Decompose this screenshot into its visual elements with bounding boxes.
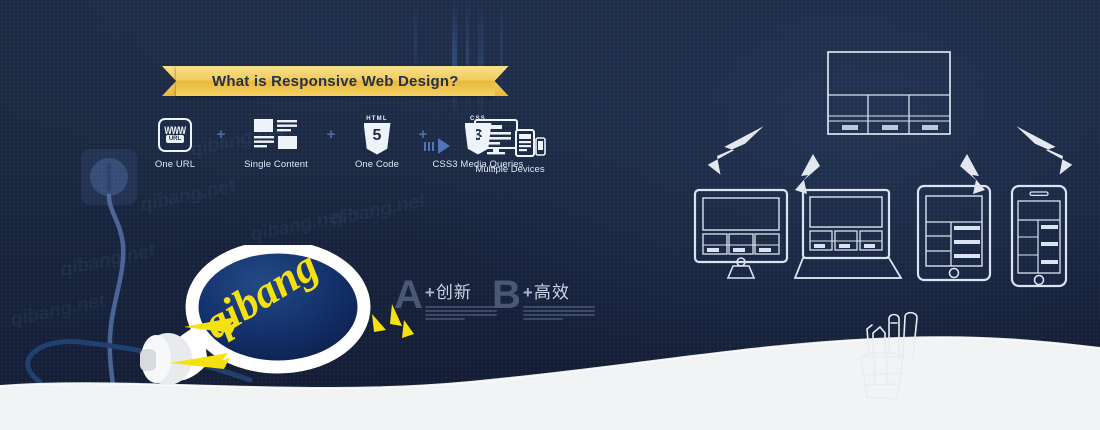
laptop-wireframe-icon	[795, 190, 901, 278]
content-blocks-icon	[254, 118, 298, 152]
feature-single-content: Single Content	[228, 118, 324, 170]
feature-one-code: HTML 5 One Code	[338, 118, 416, 170]
monitor-wireframe-icon	[695, 190, 787, 278]
content-blocks-svg	[254, 119, 298, 151]
light-bar	[452, 0, 457, 118]
fan-out-arrow-icon	[707, 119, 1074, 194]
plus-separator: +	[214, 118, 228, 152]
feature-label: Single Content	[244, 159, 308, 170]
watermark: qibang.net	[329, 190, 428, 231]
multiple-devices-icon	[474, 118, 546, 158]
ribbon-body: What is Responsive Web Design?	[176, 66, 495, 96]
html5-shield-icon: HTML 5	[364, 118, 391, 152]
ribbon-left-tail	[162, 66, 176, 96]
feature-label: Multiple Devices	[475, 164, 544, 175]
lightbulb-icon: qibang	[110, 245, 400, 405]
phone-wireframe-icon	[1012, 186, 1066, 286]
light-bar	[478, 0, 484, 126]
desktop-wireframe-icon	[828, 52, 950, 134]
headline-ribbon: What is Responsive Web Design?	[176, 66, 495, 96]
multiple-devices-svg	[474, 118, 546, 158]
feature-label: One Code	[355, 159, 399, 170]
right-arrow-icon	[424, 138, 450, 154]
feature-multiple-devices: Multiple Devices	[470, 118, 550, 175]
devices-diagram	[690, 40, 1090, 300]
url-box-www-text: WWW	[164, 126, 185, 135]
plus-separator: +	[324, 118, 338, 152]
page-title: What is Responsive Web Design?	[212, 73, 459, 90]
pencil-cup-sketch-icon	[845, 305, 955, 405]
html5-number-text: 5	[373, 128, 382, 149]
html5-tag-text: HTML	[366, 116, 387, 122]
light-bar	[500, 0, 503, 96]
banner-stage: qibang.net qibang.net qibang.net qibang.…	[0, 0, 1100, 430]
tablet-wireframe-icon	[918, 186, 990, 280]
